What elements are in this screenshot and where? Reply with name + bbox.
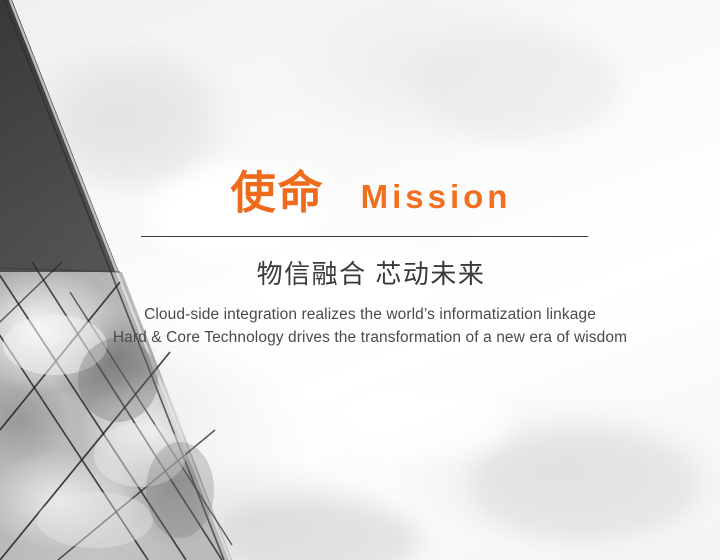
- mission-banner: 使命 Mission 物信融合 芯动未来 Cloud-side integrat…: [0, 0, 720, 560]
- headline-chinese: 使命: [231, 170, 325, 215]
- headline-divider: [141, 236, 588, 237]
- mission-tagline: Cloud-side integration realizes the worl…: [60, 303, 680, 349]
- mission-subtitle: 物信融合 芯动未来: [141, 258, 601, 291]
- headline-english: Mission: [361, 180, 512, 213]
- tagline-line-2: Hard & Core Technology drives the transf…: [60, 326, 680, 349]
- mission-headline: 使命 Mission: [141, 170, 601, 215]
- tagline-line-1: Cloud-side integration realizes the worl…: [60, 303, 680, 326]
